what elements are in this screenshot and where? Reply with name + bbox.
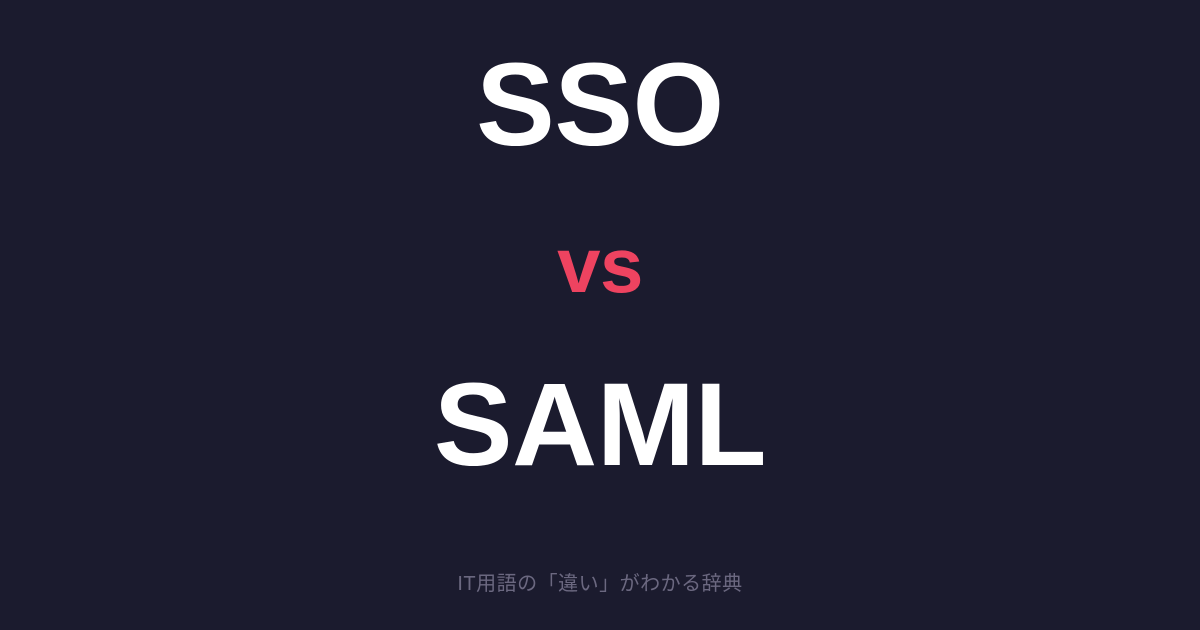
second-term-heading: SAML [434,366,766,484]
og-comparison-card: SSO vs SAML IT用語の「違い」がわかる辞典 [0,0,1200,630]
first-term-heading: SSO [476,46,724,164]
versus-separator-label: vs [557,226,643,304]
site-tagline: IT用語の「違い」がわかる辞典 [0,570,1200,598]
comparison-block: SSO vs SAML [0,0,1200,530]
